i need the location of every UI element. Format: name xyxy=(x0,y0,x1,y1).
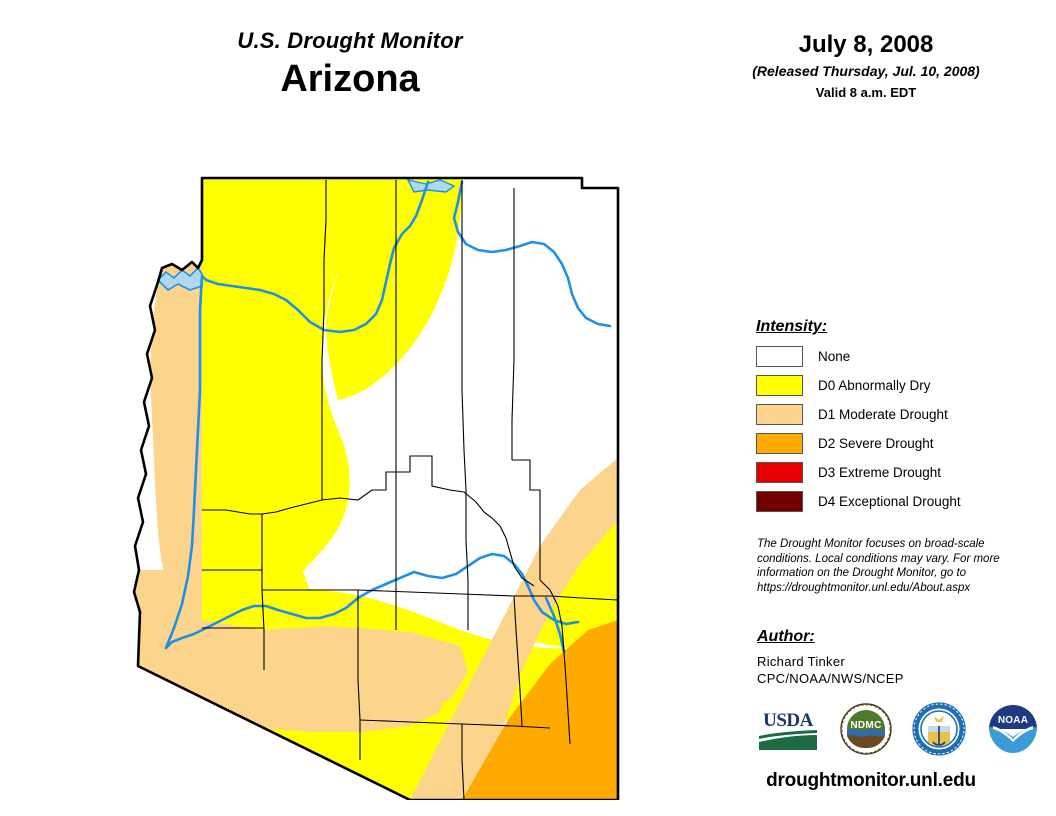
agency-logos: USDA NDMC xyxy=(757,702,1039,760)
title-block: U.S. Drought Monitor Arizona xyxy=(150,28,550,102)
legend-swatch-d1 xyxy=(756,404,803,425)
date-block: July 8, 2008 (Released Thursday, Jul. 10… xyxy=(706,30,1026,102)
legend-item-d1: D1 Moderate Drought xyxy=(756,403,1036,426)
disclaimer-text: The Drought Monitor focuses on broad-sca… xyxy=(757,537,1027,595)
footer-url[interactable]: droughtmonitor.unl.edu xyxy=(706,770,1036,792)
state-title: Arizona xyxy=(150,56,550,102)
program-title: U.S. Drought Monitor xyxy=(150,28,550,54)
legend-label-d3: D3 Extreme Drought xyxy=(818,465,941,481)
svg-text:USDA: USDA xyxy=(763,710,814,731)
noaa-logo[interactable]: NOAA xyxy=(987,703,1039,760)
author-name: Richard Tinker xyxy=(757,653,1027,670)
legend-label-d0: D0 Abnormally Dry xyxy=(818,378,931,394)
legend-item-none: None xyxy=(756,345,1036,368)
legend-label-d2: D2 Severe Drought xyxy=(818,436,934,452)
svg-text:NOAA: NOAA xyxy=(998,715,1028,726)
usdc-seal-logo[interactable] xyxy=(912,702,966,761)
author-heading: Author: xyxy=(757,628,1027,646)
ndmc-logo[interactable]: NDMC xyxy=(840,703,892,760)
usda-logo[interactable]: USDA xyxy=(757,706,819,757)
legend-item-d0: D0 Abnormally Dry xyxy=(756,374,1036,397)
author-block: Author: Richard Tinker CPC/NOAA/NWS/NCEP xyxy=(757,628,1027,687)
legend-swatch-d2 xyxy=(756,433,803,454)
intensity-legend: Intensity: None D0 Abnormally Dry D1 Mod… xyxy=(756,318,1036,519)
legend-title: Intensity: xyxy=(756,318,1036,336)
legend-item-d4: D4 Exceptional Drought xyxy=(756,490,1036,513)
svg-text:NDMC: NDMC xyxy=(850,720,881,731)
legend-swatch-none xyxy=(756,346,803,367)
valid-time: Valid 8 a.m. EDT xyxy=(706,83,1026,102)
legend-label-d4: D4 Exceptional Drought xyxy=(818,494,961,510)
legend-item-d2: D2 Severe Drought xyxy=(756,432,1036,455)
legend-swatch-d3 xyxy=(756,462,803,483)
legend-swatch-d0 xyxy=(756,375,803,396)
legend-label-none: None xyxy=(818,349,850,365)
release-date: (Released Thursday, Jul. 10, 2008) xyxy=(706,61,1026,81)
map-date: July 8, 2008 xyxy=(706,30,1026,60)
legend-label-d1: D1 Moderate Drought xyxy=(818,407,948,423)
legend-swatch-d4 xyxy=(756,491,803,512)
legend-item-d3: D3 Extreme Drought xyxy=(756,461,1036,484)
drought-map[interactable] xyxy=(110,160,670,800)
author-affiliation: CPC/NOAA/NWS/NCEP xyxy=(757,670,1027,687)
